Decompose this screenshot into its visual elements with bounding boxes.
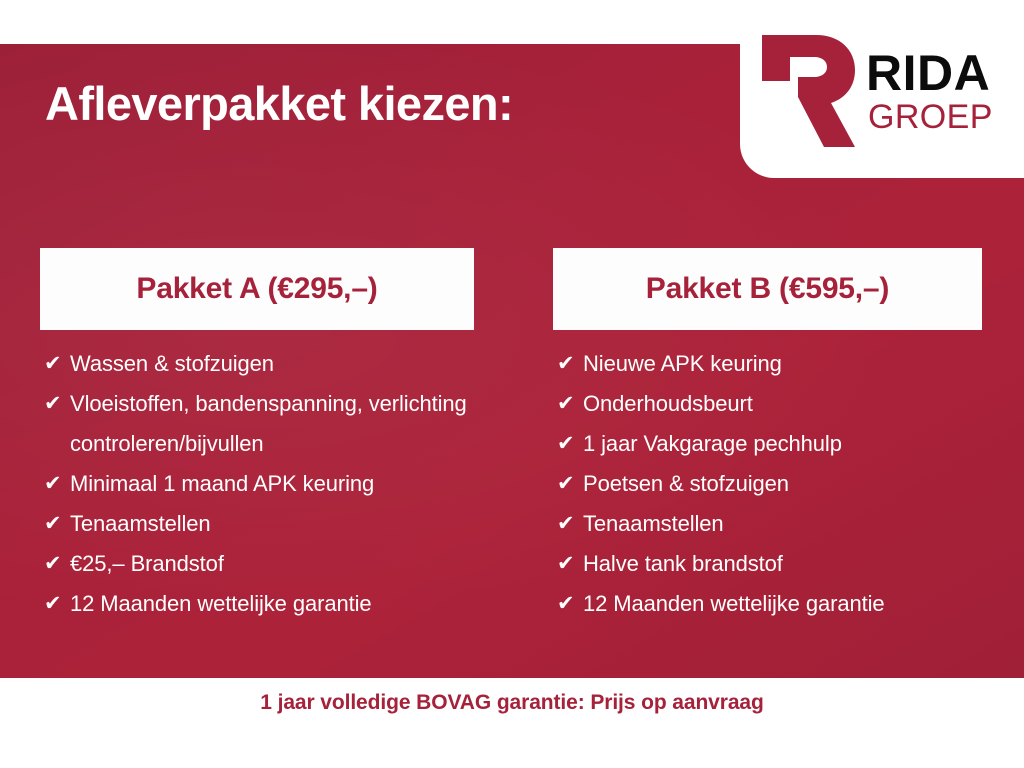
check-icon: ✔ bbox=[553, 384, 583, 424]
list-item: ✔ 12 Maanden wettelijke garantie bbox=[553, 584, 982, 624]
package-card-pakket-a[interactable]: Pakket A (€295,–) ✔ Wassen & stofzuigen … bbox=[40, 248, 474, 624]
check-icon: ✔ bbox=[553, 344, 583, 384]
feature-label: 12 Maanden wettelijke garantie bbox=[70, 584, 372, 624]
list-item: ✔ Halve tank brandstof bbox=[553, 544, 982, 584]
check-icon: ✔ bbox=[553, 424, 583, 464]
check-icon: ✔ bbox=[40, 504, 70, 544]
feature-label: €25,– Brandstof bbox=[70, 544, 224, 584]
feature-label: Minimaal 1 maand APK keuring bbox=[70, 464, 374, 504]
check-icon: ✔ bbox=[40, 344, 70, 384]
logo-subtitle: GROEP bbox=[868, 100, 993, 136]
list-item: ✔ Poetsen & stofzuigen bbox=[553, 464, 982, 504]
list-item: ✔ Wassen & stofzuigen bbox=[40, 344, 474, 384]
bovag-guarantee-text: 1 jaar volledige BOVAG garantie: Prijs o… bbox=[260, 691, 763, 715]
feature-label: Tenaamstellen bbox=[70, 504, 211, 544]
list-item: ✔ Minimaal 1 maand APK keuring bbox=[40, 464, 474, 504]
list-item: ✔ Onderhoudsbeurt bbox=[553, 384, 982, 424]
check-icon: ✔ bbox=[553, 464, 583, 504]
package-header-pakket-b[interactable]: Pakket B (€595,–) bbox=[553, 248, 982, 330]
feature-label: 1 jaar Vakgarage pechhulp bbox=[583, 424, 842, 464]
list-item: ✔ Nieuwe APK keuring bbox=[553, 344, 982, 384]
logo-panel: RIDA GROEP bbox=[740, 0, 1024, 178]
logo-name: RIDA bbox=[866, 49, 993, 98]
check-icon: ✔ bbox=[553, 584, 583, 624]
feature-label: Poetsen & stofzuigen bbox=[583, 464, 789, 504]
page-title: Afleverpakket kiezen: bbox=[45, 78, 513, 130]
rida-r-monogram-icon bbox=[754, 29, 858, 153]
package-card-pakket-b[interactable]: Pakket B (€595,–) ✔ Nieuwe APK keuring ✔… bbox=[553, 248, 982, 624]
list-item: ✔ 1 jaar Vakgarage pechhulp bbox=[553, 424, 982, 464]
check-icon: ✔ bbox=[40, 464, 70, 504]
package-header-pakket-a[interactable]: Pakket A (€295,–) bbox=[40, 248, 474, 330]
feature-label: Nieuwe APK keuring bbox=[583, 344, 782, 384]
list-item: ✔ 12 Maanden wettelijke garantie bbox=[40, 584, 474, 624]
logo-wordmark: RIDA GROEP bbox=[866, 49, 993, 136]
feature-label: Tenaamstellen bbox=[583, 504, 724, 544]
feature-label: Vloeistoffen, bandenspanning, verlichtin… bbox=[70, 384, 474, 464]
feature-label: Onderhoudsbeurt bbox=[583, 384, 753, 424]
check-icon: ✔ bbox=[40, 384, 70, 424]
check-icon: ✔ bbox=[40, 584, 70, 624]
check-icon: ✔ bbox=[553, 544, 583, 584]
check-icon: ✔ bbox=[553, 504, 583, 544]
feature-label: 12 Maanden wettelijke garantie bbox=[583, 584, 885, 624]
feature-list-pakket-b: ✔ Nieuwe APK keuring ✔ Onderhoudsbeurt ✔… bbox=[553, 344, 982, 624]
slide-canvas: Afleverpakket kiezen: RIDA GROEP Pakket … bbox=[0, 0, 1024, 768]
package-title-pakket-a: Pakket A (€295,–) bbox=[136, 272, 377, 306]
list-item: ✔ €25,– Brandstof bbox=[40, 544, 474, 584]
feature-label: Halve tank brandstof bbox=[583, 544, 783, 584]
bottom-banner: 1 jaar volledige BOVAG garantie: Prijs o… bbox=[0, 678, 1024, 768]
feature-list-pakket-a: ✔ Wassen & stofzuigen ✔ Vloeistoffen, ba… bbox=[40, 344, 474, 624]
package-title-pakket-b: Pakket B (€595,–) bbox=[646, 272, 889, 306]
feature-label: Wassen & stofzuigen bbox=[70, 344, 274, 384]
list-item: ✔ Tenaamstellen bbox=[553, 504, 982, 544]
check-icon: ✔ bbox=[40, 544, 70, 584]
list-item: ✔ Tenaamstellen bbox=[40, 504, 474, 544]
list-item: ✔ Vloeistoffen, bandenspanning, verlicht… bbox=[40, 384, 474, 464]
